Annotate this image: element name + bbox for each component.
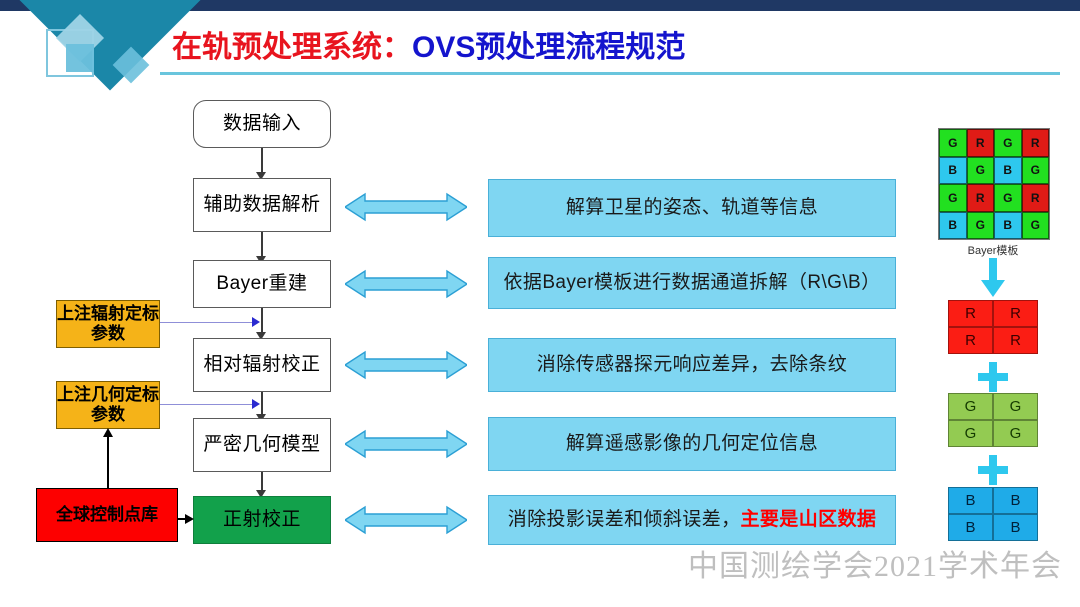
- bayer-cell: G: [1022, 157, 1050, 185]
- channel-cell: R: [948, 327, 993, 354]
- double-arrow-icon: [345, 350, 467, 380]
- gcp-right-connector-arrowhead: [185, 514, 194, 524]
- description-text-highlight: 主要是山区数据: [741, 509, 877, 530]
- bayer-cell: G: [939, 129, 967, 157]
- flow-step-rigorous-geometric-model[interactable]: 严密几何模型: [193, 418, 331, 472]
- gcp-up-connector-line: [107, 436, 109, 488]
- bayer-cell: R: [967, 129, 995, 157]
- connector-line: [261, 148, 263, 174]
- description-bayer: 依据Bayer模板进行数据通道拆解（R\G\B）: [488, 257, 896, 309]
- description-text: 依据Bayer模板进行数据通道拆解（R\G\B）: [504, 272, 881, 295]
- channel-cell: B: [993, 487, 1038, 514]
- plus-icon: [978, 455, 1008, 490]
- channel-cell: G: [993, 393, 1038, 420]
- channel-cell: B: [948, 487, 993, 514]
- bayer-cell: G: [939, 184, 967, 212]
- slide-canvas: 在轨预处理系统：OVS预处理流程规范 数据输入 辅助数据解析 Bayer重建 相…: [0, 0, 1080, 607]
- channel-grid-red: R R R R: [948, 300, 1038, 354]
- bayer-cell: R: [1022, 129, 1050, 157]
- description-text: 消除传感器探元响应差异，去除条纹: [537, 354, 847, 377]
- flow-step-label: 相对辐射校正: [203, 354, 320, 376]
- bayer-pattern-grid: G R G R B G B G G R G R B G B G: [938, 128, 1050, 240]
- input-global-gcp-library[interactable]: 全球控制点库: [36, 488, 178, 542]
- bayer-cell: B: [939, 212, 967, 240]
- input-label: 上注辐射定标参数: [57, 304, 159, 345]
- bayer-cell: G: [967, 212, 995, 240]
- channel-cell: G: [993, 420, 1038, 447]
- flow-step-label: 正射校正: [223, 509, 301, 531]
- param-connector-arrowhead: [252, 399, 260, 409]
- flow-step-label: 数据输入: [223, 113, 301, 135]
- channel-cell: G: [948, 420, 993, 447]
- description-text-wrapper: 消除投影误差和倾斜误差，主要是山区数据: [508, 509, 877, 532]
- description-text: 解算遥感影像的几何定位信息: [566, 433, 818, 456]
- channel-cell: R: [993, 327, 1038, 354]
- gcp-up-connector-arrowhead: [103, 428, 113, 437]
- param-connector-line: [160, 322, 258, 323]
- channel-grid-blue: B B B B: [948, 487, 1038, 541]
- flow-step-orthorectification[interactable]: 正射校正: [193, 496, 331, 544]
- channel-grid-green: G G G G: [948, 393, 1038, 447]
- channel-cell: R: [993, 300, 1038, 327]
- bayer-cell: B: [994, 212, 1022, 240]
- param-connector-line: [160, 404, 258, 405]
- flow-step-label: 严密几何模型: [203, 434, 320, 456]
- page-title-blue: OVS预处理流程规范: [412, 31, 685, 64]
- bayer-cell: G: [994, 184, 1022, 212]
- description-orthorectification: 消除投影误差和倾斜误差，主要是山区数据: [488, 495, 896, 545]
- header-divider: [160, 72, 1060, 75]
- description-geometric: 解算遥感影像的几何定位信息: [488, 417, 896, 471]
- flow-step-data-input[interactable]: 数据输入: [193, 100, 331, 148]
- bayer-cell: R: [967, 184, 995, 212]
- bayer-cell: B: [994, 157, 1022, 185]
- description-aux-data: 解算卫星的姿态、轨道等信息: [488, 179, 896, 237]
- double-arrow-icon: [345, 269, 467, 299]
- flow-step-label: Bayer重建: [216, 273, 307, 295]
- bayer-cell: B: [939, 157, 967, 185]
- down-arrow-icon: [980, 258, 1006, 303]
- description-text: 解算卫星的姿态、轨道等信息: [566, 197, 818, 220]
- bayer-pattern-caption: Bayer模板: [933, 242, 1053, 258]
- double-arrow-icon: [345, 429, 467, 459]
- bayer-cell: G: [994, 129, 1022, 157]
- input-label: 上注几何定标参数: [57, 385, 159, 426]
- double-arrow-icon: [345, 192, 467, 222]
- input-label: 全球控制点库: [56, 505, 158, 525]
- channel-cell: G: [948, 393, 993, 420]
- input-geometric-calibration-params[interactable]: 上注几何定标参数: [56, 381, 160, 429]
- connector-line: [261, 232, 263, 258]
- description-text-plain: 消除投影误差和倾斜误差，: [508, 509, 741, 530]
- flow-step-aux-data-parse[interactable]: 辅助数据解析: [193, 178, 331, 232]
- plus-icon: [978, 362, 1008, 397]
- flow-step-relative-radiometric-correction[interactable]: 相对辐射校正: [193, 338, 331, 392]
- footer-watermark: 中国测绘学会2021学术年会: [688, 541, 1062, 585]
- param-connector-arrowhead: [252, 317, 260, 327]
- page-title: 在轨预处理系统：OVS预处理流程规范: [172, 22, 685, 66]
- channel-cell: B: [948, 514, 993, 541]
- channel-cell: R: [948, 300, 993, 327]
- input-radiometric-calibration-params[interactable]: 上注辐射定标参数: [56, 300, 160, 348]
- flow-step-label: 辅助数据解析: [203, 194, 320, 216]
- double-arrow-icon: [345, 505, 467, 535]
- header-square-mid-decoration: [66, 44, 94, 72]
- page-title-red: 在轨预处理系统：: [172, 31, 412, 64]
- channel-cell: B: [993, 514, 1038, 541]
- bayer-cell: G: [967, 157, 995, 185]
- flow-step-bayer-reconstruction[interactable]: Bayer重建: [193, 260, 331, 308]
- bayer-cell: R: [1022, 184, 1050, 212]
- bayer-cell: G: [1022, 212, 1050, 240]
- description-radiometric: 消除传感器探元响应差异，去除条纹: [488, 338, 896, 392]
